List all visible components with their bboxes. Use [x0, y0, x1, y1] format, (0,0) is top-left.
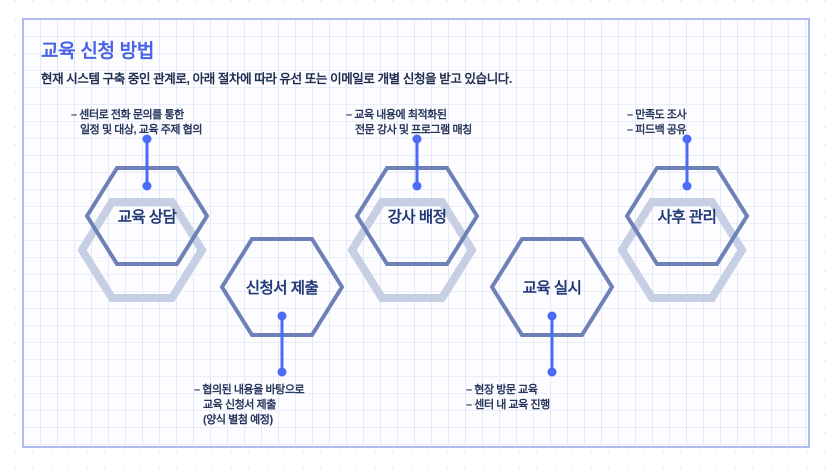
- connector-1: [143, 135, 152, 191]
- note-step-1: – 센터로 전화 문의를 통한 일정 및 대상, 교육 주제 협의: [71, 108, 202, 138]
- connector-5: [683, 135, 692, 191]
- hexagon-label-3: 강사 배정: [388, 208, 447, 226]
- note-step-5: – 만족도 조사 – 피드백 공유: [627, 108, 686, 138]
- note-line: 교육 신청서 제출: [194, 398, 304, 413]
- hexagon-label-4: 교육 실시: [523, 279, 582, 297]
- note-line: – 센터로 전화 문의를 통한: [71, 108, 202, 123]
- note-line: – 피드백 공유: [627, 123, 686, 138]
- page-background: 교육 신청 방법 현재 시스템 구축 중인 관계로, 아래 절차에 따라 유선 …: [0, 0, 835, 470]
- connector-3: [413, 135, 422, 191]
- connector-4: [548, 312, 557, 377]
- process-flow-diagram: 교육 상담 신청서 제출 강사 배정 교육 실시 사후 관리: [24, 20, 810, 448]
- note-step-3: – 교육 내용에 최적화된 전문 강사 및 프로그램 매칭: [346, 108, 472, 138]
- note-line: 일정 및 대상, 교육 주제 협의: [71, 123, 202, 138]
- hexagon-label-5: 사후 관리: [658, 207, 717, 226]
- connector-dot-1-bottom: [143, 182, 152, 191]
- connector-dot-2-bottom: [278, 368, 287, 377]
- note-line: – 현장 방문 교육: [466, 383, 550, 398]
- note-line: (양식 별첨 예정): [194, 413, 304, 428]
- note-line: 전문 강사 및 프로그램 매칭: [346, 123, 472, 138]
- note-step-4: – 현장 방문 교육 – 센터 내 교육 진행: [466, 383, 550, 413]
- connector-dot-4-top: [548, 312, 557, 321]
- note-line: – 교육 내용에 최적화된: [346, 108, 472, 123]
- connector-dot-5-bottom: [683, 182, 692, 191]
- hexagon-label-2: 신청서 제출: [246, 278, 319, 297]
- note-line: – 협의된 내용을 바탕으로: [194, 383, 304, 398]
- connector-dot-2-top: [278, 312, 287, 321]
- connector-dot-3-bottom: [413, 182, 422, 191]
- note-step-2: – 협의된 내용을 바탕으로 교육 신청서 제출 (양식 별첨 예정): [194, 383, 304, 428]
- hexagon-label-1: 교육 상담: [118, 208, 178, 226]
- note-line: – 만족도 조사: [627, 108, 686, 123]
- connector-2: [278, 312, 287, 377]
- info-card: 교육 신청 방법 현재 시스템 구축 중인 관계로, 아래 절차에 따라 유선 …: [22, 18, 810, 448]
- note-line: – 센터 내 교육 진행: [466, 398, 550, 413]
- connector-dot-4-bottom: [548, 368, 557, 377]
